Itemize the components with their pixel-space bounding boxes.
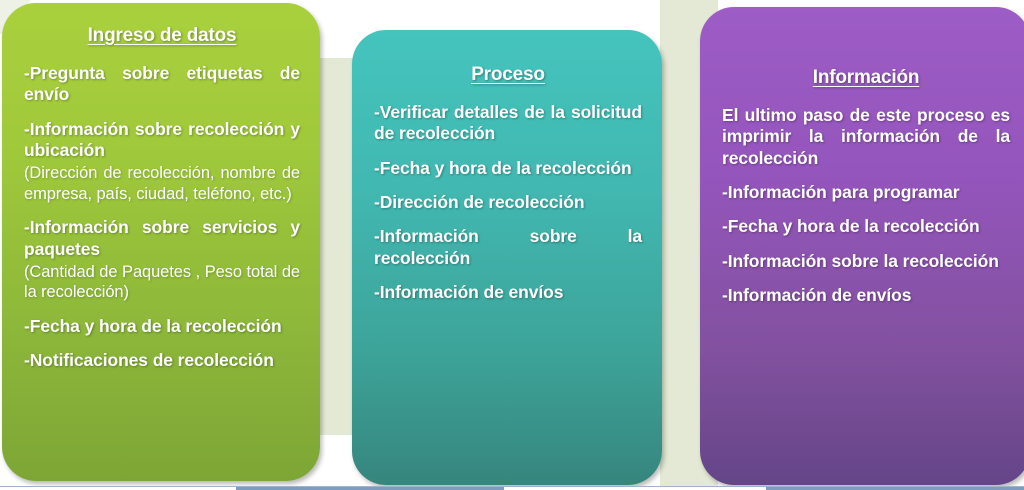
card-informacion-item-1: El ultimo paso de este proceso es imprim… bbox=[722, 105, 1010, 169]
card-proceso-item-4: -Información sobre la recolección bbox=[374, 226, 642, 269]
card-informacion-item-1-text: El ultimo paso de este proceso es imprim… bbox=[722, 105, 1010, 169]
card-ingreso-item-1-text: -Pregunta sobre etiquetas de envío bbox=[24, 63, 300, 106]
card-informacion-item-2: -Información para programar bbox=[722, 182, 1010, 203]
card-ingreso-item-6-text: -Fecha y hora de la recolección bbox=[24, 316, 300, 337]
card-ingreso-item-5-text: (Cantidad de Paquetes , Peso total de la… bbox=[24, 262, 300, 303]
card-ingreso-item-7-text: -Notificaciones de recolección bbox=[24, 350, 300, 371]
card-informacion[interactable]: Información El ultimo paso de este proce… bbox=[700, 7, 1024, 485]
card-informacion-item-4-text: -Información sobre la recolección bbox=[722, 251, 1010, 272]
card-proceso-item-1: -Verificar detalles de la solicitud de r… bbox=[374, 102, 642, 145]
card-proceso[interactable]: Proceso -Verificar detalles de la solici… bbox=[352, 30, 662, 485]
card-informacion-item-5-text: -Información de envíos bbox=[722, 285, 1010, 306]
card-informacion-item-5: -Información de envíos bbox=[722, 285, 1010, 306]
card-proceso-item-3: -Dirección de recolección bbox=[374, 192, 642, 213]
card-proceso-item-5: -Información de envíos bbox=[374, 282, 642, 303]
card-proceso-item-2: -Fecha y hora de la recolección bbox=[374, 158, 642, 179]
card-proceso-item-4-text: -Información sobre la recolección bbox=[374, 226, 642, 269]
card-proceso-title: Proceso bbox=[374, 64, 642, 86]
card-proceso-item-5-text: -Información de envíos bbox=[374, 282, 642, 303]
card-informacion-item-3-text: -Fecha y hora de la recolección bbox=[722, 216, 1010, 237]
card-ingreso-item-7: -Notificaciones de recolección bbox=[24, 350, 300, 371]
card-informacion-item-3: -Fecha y hora de la recolección bbox=[722, 216, 1010, 237]
card-informacion-item-4: -Información sobre la recolección bbox=[722, 251, 1010, 272]
card-ingreso-item-4: -Información sobre servicios y paquetes bbox=[24, 217, 300, 260]
card-ingreso-item-2: -Información sobre recolección y ubicaci… bbox=[24, 119, 300, 162]
card-informacion-item-2-text: -Información para programar bbox=[722, 182, 1010, 203]
card-ingreso-item-1: -Pregunta sobre etiquetas de envío bbox=[24, 63, 300, 106]
slide-canvas: Ingreso de datos -Pregunta sobre etiquet… bbox=[0, 0, 1024, 490]
card-ingreso-item-2-text: -Información sobre recolección y ubicaci… bbox=[24, 119, 300, 162]
card-ingreso-de-datos[interactable]: Ingreso de datos -Pregunta sobre etiquet… bbox=[2, 3, 320, 481]
card-ingreso-item-3-text: (Dirección de recolección, nombre de emp… bbox=[24, 163, 300, 204]
card-ingreso-item-6: -Fecha y hora de la recolección bbox=[24, 316, 300, 337]
card-ingreso-item-5: (Cantidad de Paquetes , Peso total de la… bbox=[24, 262, 300, 303]
card-ingreso-title: Ingreso de datos bbox=[24, 25, 300, 47]
card-ingreso-item-3: (Dirección de recolección, nombre de emp… bbox=[24, 163, 300, 204]
card-proceso-item-1-text: -Verificar detalles de la solicitud de r… bbox=[374, 102, 642, 145]
card-ingreso-item-4-text: -Información sobre servicios y paquetes bbox=[24, 217, 300, 260]
card-proceso-item-3-text: -Dirección de recolección bbox=[374, 192, 642, 213]
card-informacion-title: Información bbox=[722, 67, 1010, 89]
card-proceso-item-2-text: -Fecha y hora de la recolección bbox=[374, 158, 642, 179]
